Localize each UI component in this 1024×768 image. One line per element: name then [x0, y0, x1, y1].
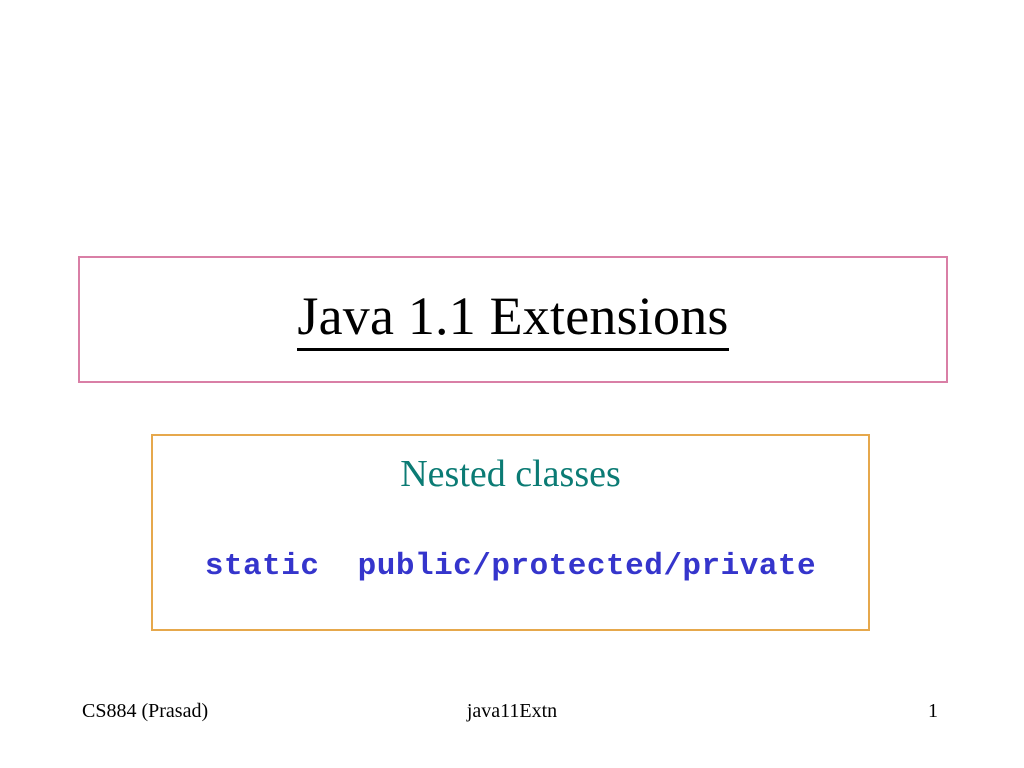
content-code-line: static public/protected/private — [153, 550, 868, 584]
slide-footer: CS884 (Prasad) java11Extn 1 — [0, 700, 1024, 734]
page-title: Java 1.1 Extensions — [297, 288, 728, 352]
title-box: Java 1.1 Extensions — [78, 256, 948, 383]
slide-canvas: Java 1.1 Extensions Nested classes stati… — [0, 0, 1024, 768]
footer-page-number: 1 — [928, 700, 938, 723]
footer-deck-name: java11Extn — [0, 700, 1024, 723]
content-heading: Nested classes — [153, 454, 868, 496]
content-box: Nested classes static public/protected/p… — [151, 434, 870, 631]
